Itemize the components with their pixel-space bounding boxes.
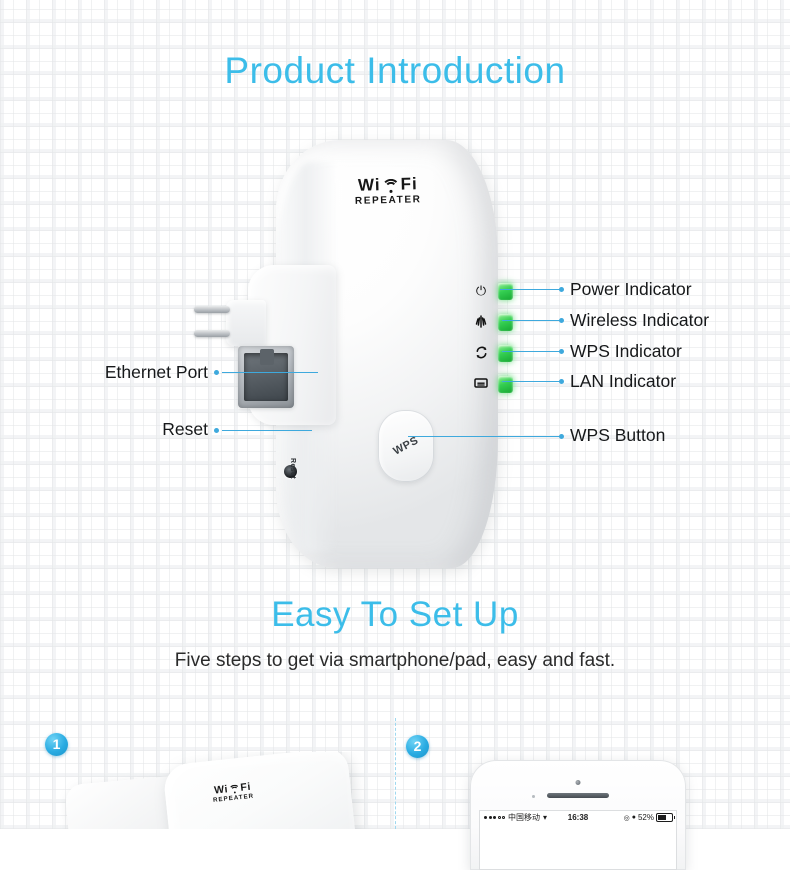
lan-led: [498, 376, 513, 393]
device-plug-base: [226, 300, 266, 346]
page-title-easy-to-set-up: Easy To Set Up: [0, 595, 790, 635]
led-row-wps: [470, 344, 530, 362]
lan-icon: [472, 375, 490, 393]
callout-label-reset: Reset: [0, 419, 208, 440]
connector-reset: [222, 430, 312, 431]
proximity-sensor-icon: [532, 795, 535, 798]
led-row-power: ⏻: [470, 282, 530, 300]
ethernet-port-cavity: [244, 353, 288, 401]
callout-label-wireless-indicator: Wireless Indicator: [570, 310, 709, 331]
phone-status-bar: 中国移动 ▾ 16:38 ◎ ● 52%: [479, 810, 677, 825]
connector-power: [500, 289, 562, 290]
wps-icon: [472, 344, 490, 362]
callout-label-ethernet-port: Ethernet Port: [0, 362, 208, 383]
wps-led: [498, 345, 513, 362]
page-subtitle-steps: Five steps to get via smartphone/pad, ea…: [0, 650, 790, 672]
wifi-status-icon: ▾: [543, 813, 547, 822]
signal-strength-icon: [484, 816, 505, 819]
front-camera-icon: [576, 780, 581, 785]
connector-dot: [559, 349, 564, 354]
battery-percent-label: 52%: [638, 813, 654, 822]
battery-icon: [656, 813, 673, 822]
carrier-label: 中国移动: [508, 812, 540, 823]
connector-wireless: [502, 320, 562, 321]
plug-pin-icon: [194, 330, 230, 337]
phone-screen: 中国移动 ▾ 16:38 ◎ ● 52%: [479, 810, 677, 870]
callout-label-wps-button: WPS Button: [570, 425, 665, 446]
connector-ethernet-port: [222, 372, 318, 373]
connector-dot: [559, 318, 564, 323]
wifi-signal-icon: [229, 784, 240, 794]
step-badge-2: 2: [406, 735, 429, 758]
ethernet-port: [238, 346, 294, 408]
wireless-icon: [472, 313, 490, 331]
smartphone-body: 中国移动 ▾ 16:38 ◎ ● 52%: [470, 760, 686, 870]
callout-label-lan-indicator: LAN Indicator: [570, 371, 676, 392]
connector-dot: [559, 287, 564, 292]
wifi-repeater-device-image: Wi Fi REPEATER Reset WPS ⏻: [228, 140, 548, 570]
connector-wps: [502, 351, 562, 352]
reset-marking-text: Reset: [289, 458, 296, 479]
rotation-lock-icon: ◎: [624, 814, 630, 822]
plug-pin-icon: [194, 306, 230, 313]
connector-dot: [214, 370, 219, 375]
earpiece-speaker: [547, 793, 609, 798]
callout-label-power-indicator: Power Indicator: [570, 279, 692, 300]
power-icon: ⏻: [472, 282, 490, 300]
brand-text-fi: Fi: [400, 175, 418, 192]
wps-button[interactable]: WPS: [378, 410, 434, 482]
device-brand-marking: Wi Fi REPEATER: [328, 174, 449, 207]
wireless-led: [498, 314, 513, 331]
connector-dot: [559, 379, 564, 384]
connector-lan: [502, 381, 562, 382]
callout-label-wps-indicator: WPS Indicator: [570, 341, 682, 362]
clock-label: 16:38: [568, 813, 588, 822]
wps-button-label: WPS: [391, 434, 420, 457]
connector-wps-button: [408, 436, 562, 437]
brand-text-wi: Wi: [214, 784, 229, 796]
step-1-repeater-image: Wi Fi REPEATER: [60, 752, 390, 829]
step-badge-1: 1: [45, 733, 68, 756]
connector-dot: [559, 434, 564, 439]
power-led: [498, 283, 513, 300]
step-divider: [395, 718, 396, 829]
brand-text-wi: Wi: [358, 176, 381, 194]
led-row-wireless: [470, 313, 530, 331]
wifi-signal-icon: [382, 179, 398, 193]
alarm-icon: ●: [632, 814, 636, 821]
page-title-product-introduction: Product Introduction: [0, 50, 790, 92]
ethernet-port-tab: [260, 349, 274, 365]
led-row-lan: [470, 375, 530, 393]
connector-dot: [214, 428, 219, 433]
brand-text-fi: Fi: [240, 781, 252, 793]
step-2-phone-image: 中国移动 ▾ 16:38 ◎ ● 52%: [440, 760, 790, 829]
